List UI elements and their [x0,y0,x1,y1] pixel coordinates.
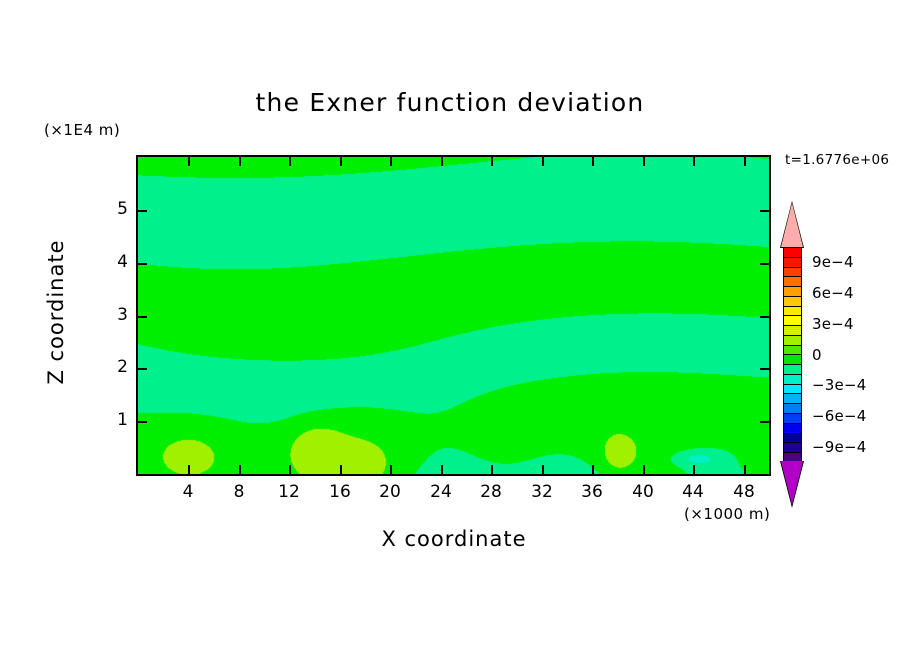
x-axis-tick [390,465,392,474]
contour-field [138,157,769,474]
colorbar-band [784,297,801,307]
x-axis-tick [643,157,645,166]
colorbar-band [784,375,801,385]
y-axis-tick [138,421,147,423]
x-axis-tick [542,157,544,166]
x-axis-unit-label: (×1000 m) [684,505,770,523]
colorbar-band [784,443,801,453]
colorbar-band [784,434,801,444]
y-axis-tick-label: 5 [88,199,128,219]
contour-plot-area [136,155,771,476]
y-axis-tick [760,263,769,265]
x-axis-tick [340,465,342,474]
y-axis-tick-label: 1 [88,410,128,430]
x-axis-tick-label: 32 [522,482,562,502]
colorbar-band [784,277,801,287]
x-axis-tick-label: 4 [168,482,208,502]
x-axis-tick [188,157,190,166]
colorbar-band [784,355,801,365]
x-axis-tick-label: 44 [673,482,713,502]
y-axis-tick-label: 2 [88,357,128,377]
y-axis-unit-label: (×1E4 m) [44,121,120,139]
x-axis-title: X coordinate [136,527,772,551]
y-axis-tick [138,316,147,318]
colorbar-tick-label: −6e−4 [812,407,866,425]
x-axis-tick [693,465,695,474]
y-axis-tick [138,368,147,370]
x-axis-tick [744,465,746,474]
x-axis-tick [390,157,392,166]
colorbar-band [784,385,801,395]
colorbar-tick-label: 3e−4 [812,315,854,333]
x-axis-tick-label: 24 [421,482,461,502]
colorbar-band [784,307,801,317]
colorbar-band [784,365,801,375]
colorbar-band [784,258,801,268]
time-annotation: t=1.6776e+06 [785,152,889,168]
colorbar-band [784,346,801,356]
x-axis-tick [693,157,695,166]
colorbar [783,247,802,462]
x-axis-tick [289,157,291,166]
colorbar-tick-label: 0 [812,346,822,364]
x-axis-tick-label: 48 [724,482,764,502]
y-axis-title: Z coordinate [44,222,68,402]
x-axis-tick [340,157,342,166]
colorbar-band [784,414,801,424]
y-axis-tick [760,210,769,212]
colorbar-tick-label: −3e−4 [812,376,866,394]
x-axis-tick-label: 12 [269,482,309,502]
x-axis-tick [744,157,746,166]
colorbar-band [784,268,801,278]
x-axis-tick [188,465,190,474]
colorbar-over-arrow [781,203,803,247]
colorbar-tick-label: 9e−4 [812,253,854,271]
colorbar-band [784,404,801,414]
y-axis-tick [760,421,769,423]
x-axis-tick [592,157,594,166]
colorbar-tick-label: −9e−4 [812,438,866,456]
x-axis-tick [441,157,443,166]
x-axis-tick [491,157,493,166]
x-axis-tick [289,465,291,474]
x-axis-tick-label: 16 [320,482,360,502]
x-axis-tick [491,465,493,474]
colorbar-band [784,424,801,434]
y-axis-tick-label: 4 [88,252,128,272]
colorbar-band [784,326,801,336]
x-axis-tick-label: 8 [219,482,259,502]
y-axis-tick [760,316,769,318]
x-axis-tick [441,465,443,474]
x-axis-tick [239,465,241,474]
y-axis-tick [760,368,769,370]
x-axis-tick-label: 36 [572,482,612,502]
colorbar-band [784,316,801,326]
colorbar-band [784,248,801,258]
x-axis-tick-label: 40 [623,482,663,502]
colorbar-tick-label: 6e−4 [812,284,854,302]
x-axis-tick [592,465,594,474]
x-axis-tick-label: 28 [471,482,511,502]
colorbar-band [784,287,801,297]
y-axis-tick-label: 3 [88,305,128,325]
x-axis-tick-label: 20 [370,482,410,502]
x-axis-tick [643,465,645,474]
colorbar-under-arrow [781,461,803,505]
colorbar-band [784,394,801,404]
y-axis-tick [138,263,147,265]
chart-title: the Exner function deviation [40,88,860,117]
y-axis-tick [138,210,147,212]
x-axis-tick [239,157,241,166]
colorbar-band [784,336,801,346]
x-axis-tick [542,465,544,474]
